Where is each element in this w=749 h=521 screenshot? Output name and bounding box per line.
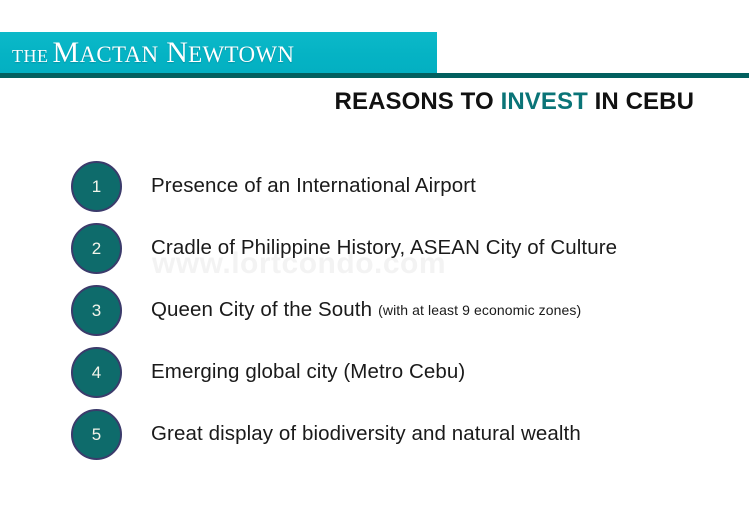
reason-number: 4: [92, 364, 101, 381]
brand-word-two-rest: EWTOWN: [188, 42, 294, 67]
page-title-before: REASONS TO: [335, 88, 501, 115]
reason-label: Presence of an International Airport: [151, 174, 476, 198]
reason-text: Presence of an International Airport: [151, 155, 476, 217]
page-title: REASONS TO INVEST IN CEBU: [0, 88, 694, 116]
brand-word-two-initial: N: [166, 36, 188, 69]
header-divider: [0, 73, 749, 78]
reason-label: Queen City of the South: [151, 298, 372, 322]
list-item: 2 Cradle of Philippine History, ASEAN Ci…: [0, 217, 749, 279]
brand-prefix: THE: [12, 46, 49, 66]
reason-number-badge: 2: [71, 223, 122, 274]
list-item: 1 Presence of an International Airport: [0, 155, 749, 217]
reason-number-badge: 1: [71, 161, 122, 212]
reason-number: 3: [92, 302, 101, 319]
page-title-accent: INVEST: [501, 88, 588, 115]
list-item: 3 Queen City of the South (with at least…: [0, 279, 749, 341]
reason-number: 2: [92, 240, 101, 257]
reason-label: Great display of biodiversity and natura…: [151, 422, 581, 446]
reason-number-badge: 5: [71, 409, 122, 460]
reason-label: Cradle of Philippine History, ASEAN City…: [151, 236, 617, 260]
brand-name: MACTAN NEWTOWN: [53, 36, 295, 69]
list-item: 4 Emerging global city (Metro Cebu): [0, 341, 749, 403]
reason-number: 5: [92, 426, 101, 443]
brand-wordmark: THEMACTAN NEWTOWN: [12, 38, 294, 68]
brand-word-one-rest: ACTAN: [79, 42, 158, 67]
reason-label: Emerging global city (Metro Cebu): [151, 360, 465, 384]
reason-text: Emerging global city (Metro Cebu): [151, 341, 465, 403]
reason-text: Cradle of Philippine History, ASEAN City…: [151, 217, 617, 279]
reason-number-badge: 3: [71, 285, 122, 336]
reason-number: 1: [92, 178, 101, 195]
brand-banner: THEMACTAN NEWTOWN: [0, 32, 437, 73]
page-title-after: IN CEBU: [588, 88, 694, 115]
reason-text: Great display of biodiversity and natura…: [151, 403, 581, 465]
list-item: 5 Great display of biodiversity and natu…: [0, 403, 749, 465]
reasons-list: 1 Presence of an International Airport 2…: [0, 155, 749, 465]
reason-note: (with at least 9 economic zones): [378, 302, 581, 318]
reason-text: Queen City of the South (with at least 9…: [151, 279, 581, 341]
reason-number-badge: 4: [71, 347, 122, 398]
brand-word-one-initial: M: [53, 36, 80, 69]
